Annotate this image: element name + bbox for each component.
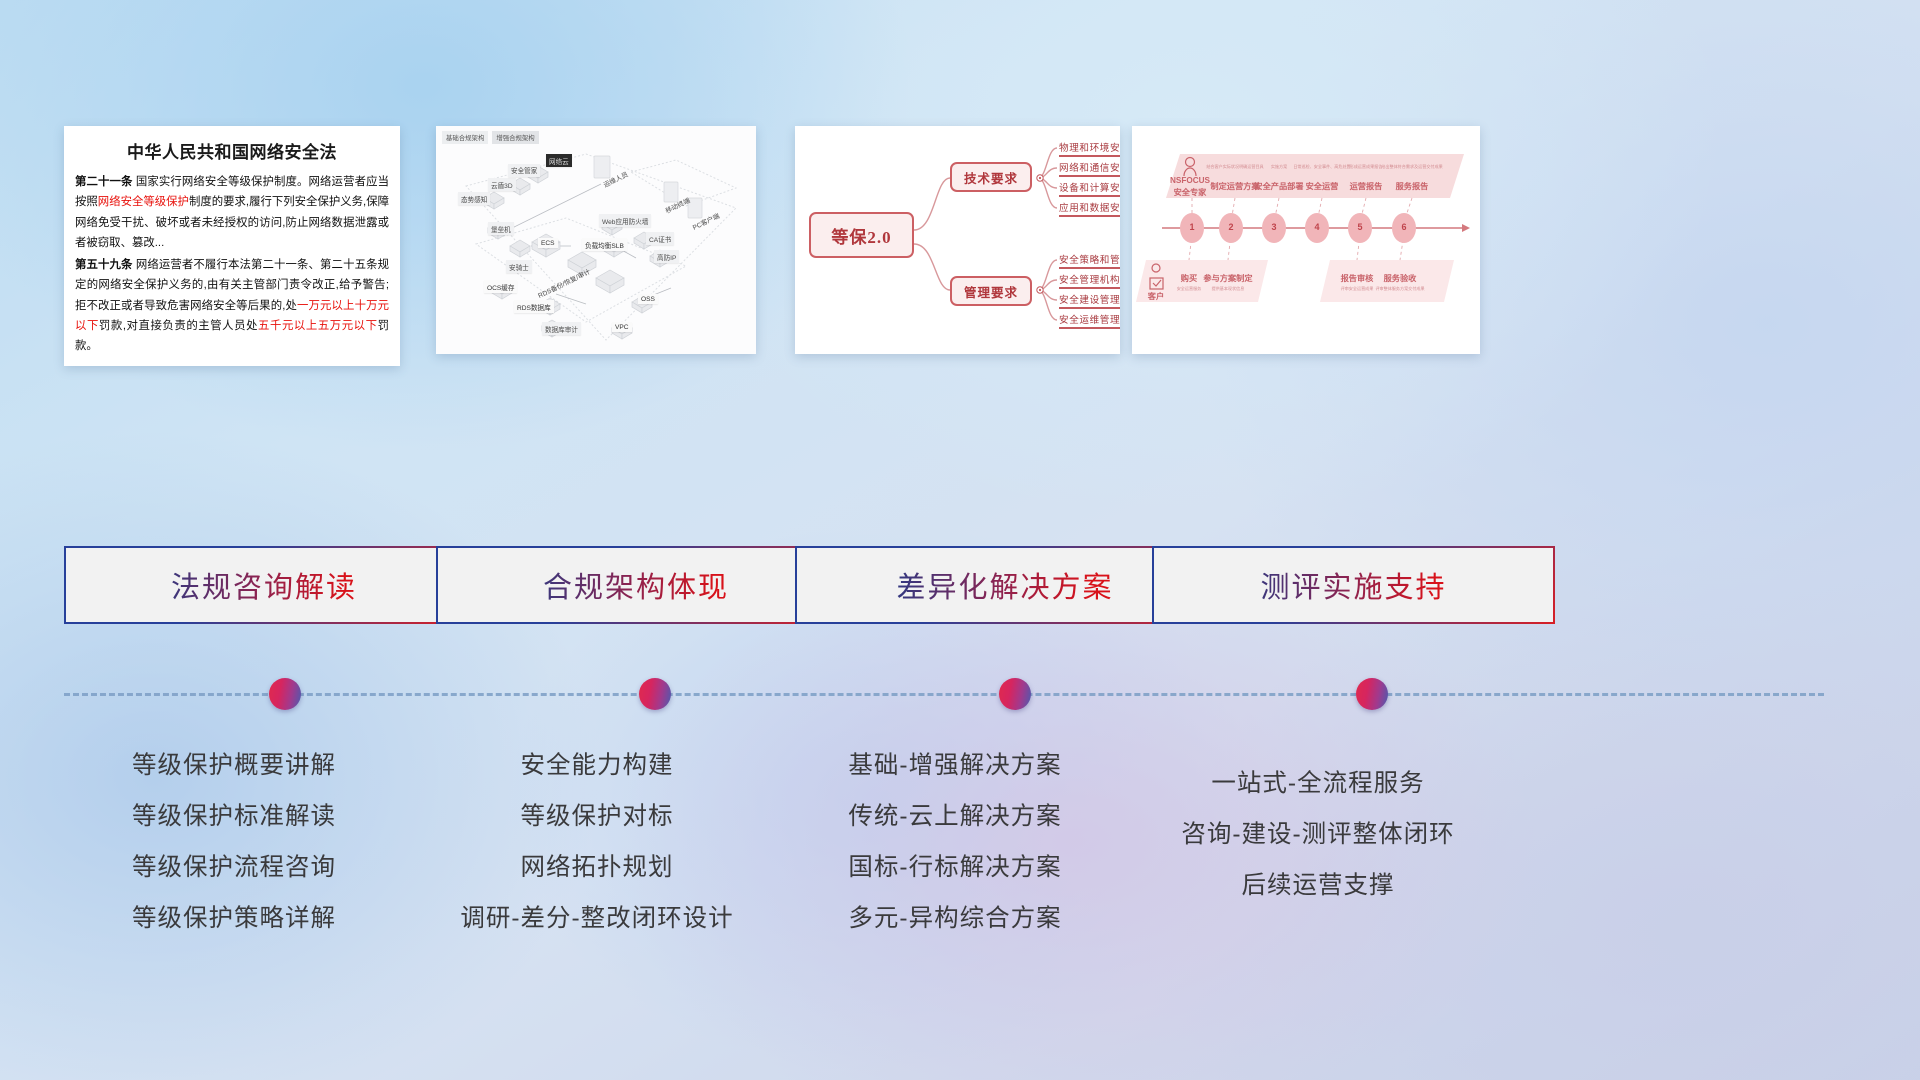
timeline-dot-3[interactable] — [999, 678, 1031, 710]
architecture-node-9: 数据库审计 — [542, 322, 581, 335]
nsfocus-top-sub-2: 日常巡检、安全事件、高危处置 — [1293, 164, 1350, 170]
button-assessment-support[interactable]: 测评实施支持 — [1152, 546, 1555, 624]
button-regulation-consulting[interactable]: 法规咨询解读 — [64, 546, 464, 624]
mindmap-branch-technical: 技术要求 — [950, 162, 1032, 192]
nsfocus-bottom-title-2: 报告审核 — [1341, 272, 1374, 284]
nsfocus-step-number-4: 4 — [1314, 222, 1319, 232]
law-highlight: 五千元以上五万元以下 — [258, 320, 378, 332]
feature-item: 多元-异构综合方案 — [790, 893, 1120, 944]
architecture-node-0: 态势感知 — [458, 192, 490, 205]
feature-item: 调研-差分-整改闭环设计 — [434, 893, 760, 944]
law-highlight: 网络安全等级保护 — [98, 196, 189, 208]
mindmap-leaf-1-1: 安全管理机构和人员 — [1059, 272, 1120, 289]
nsfocus-top-sub-0: 结合客户实际状况明确运营目具 — [1206, 164, 1263, 170]
button-compliance-architecture[interactable]: 合规架构体现 — [436, 546, 836, 624]
feature-list-3: 基础-增强解决方案传统-云上解决方案国标-行标解决方案多元-异构综合方案 — [790, 740, 1120, 944]
timeline-dot-2[interactable] — [639, 678, 671, 710]
nsfocus-expert-line2: 安全专家 — [1174, 186, 1207, 198]
nsfocus-top-sub-4: 给出整体符合需求及运营交付成果 — [1381, 164, 1442, 170]
feature-item: 基础-增强解决方案 — [790, 740, 1120, 791]
button-assessment-support-label: 测评实施支持 — [1154, 548, 1553, 622]
nsfocus-bottom-title-0: 购买 — [1181, 272, 1197, 284]
feature-item: 安全能力构建 — [434, 740, 760, 791]
nsfocus-timeline: NSFOCUS安全专家结合客户实际状况明确运营目具制定运营方案实施方案安全产品部… — [1132, 126, 1480, 354]
architecture-node-12: 负载均衡SLB — [582, 238, 627, 251]
nsfocus-bottom-title-3: 服务验收 — [1384, 272, 1417, 284]
mindmap: 等保2.0 技术要求 管理要求 物理和环境安全网络和通信安全设备和计算安全应用和… — [795, 126, 1120, 354]
nsfocus-top-title-4: 服务报告 — [1396, 180, 1429, 192]
feature-list-2: 安全能力构建等级保护对标网络拓扑规划调研-差分-整改闭环设计 — [434, 740, 760, 944]
nsfocus-top-title-0: 制定运营方案 — [1210, 180, 1259, 192]
mindmap-leaf-0-0: 物理和环境安全 — [1059, 140, 1120, 157]
nsfocus-top-title-1: 安全产品部署 — [1254, 180, 1303, 192]
nsfocus-top-sub-1: 实施方案 — [1271, 164, 1287, 170]
law-card-title: 中华人民共和国网络安全法 — [64, 138, 400, 163]
law-article-label: 第五十九条 — [75, 259, 136, 271]
button-differentiated-solution[interactable]: 差异化解决方案 — [795, 546, 1215, 624]
nsfocus-bottom-sub-3: 评审整体服务方案交付成果 — [1375, 286, 1424, 292]
card-row: 中华人民共和国网络安全法 第二十一条 国家实行网络安全等级保护制度。网络运营者应… — [0, 126, 1920, 366]
feature-item: 等级保护策略详解 — [64, 893, 404, 944]
nsfocus-expert-line1: NSFOCUS — [1170, 176, 1210, 185]
architecture-node-14: VPC — [612, 322, 632, 332]
nsfocus-bottom-sub-1: 提供基本现状信息 — [1212, 286, 1245, 292]
feature-list-1: 等级保护概要讲解等级保护标准解读等级保护流程咨询等级保护策略详解 — [64, 740, 404, 944]
card-cybersecurity-law: 中华人民共和国网络安全法 第二十一条 国家实行网络安全等级保护制度。网络运营者应… — [64, 126, 400, 366]
law-paragraph-59: 第五十九条 网络运营者不履行本法第二十一条、第二十五条规定的网络安全保护义务的,… — [64, 255, 400, 356]
nsfocus-customer-label: 客户 — [1148, 290, 1164, 302]
feature-item: 等级保护标准解读 — [64, 791, 404, 842]
architecture-node-3: 网络云 — [546, 154, 572, 167]
feature-item: 国标-行标解决方案 — [790, 842, 1120, 893]
card-mindmap-dengbao: 等保2.0 技术要求 管理要求 物理和环境安全网络和通信安全设备和计算安全应用和… — [795, 126, 1120, 354]
nsfocus-step-number-3: 3 — [1271, 222, 1276, 232]
law-paragraph-21: 第二十一条 国家实行网络安全等级保护制度。网络运营者应当按照网络安全等级保护制度… — [64, 172, 400, 253]
button-regulation-consulting-label: 法规咨询解读 — [66, 548, 462, 622]
feature-item: 传统-云上解决方案 — [790, 791, 1120, 842]
card-nsfocus-process: NSFOCUS安全专家结合客户实际状况明确运营目具制定运营方案实施方案安全产品部… — [1132, 126, 1480, 354]
nsfocus-bottom-sub-2: 评审安全运营成果 — [1341, 286, 1374, 292]
architecture-diagram: 基础合规架构 增强合规架构 — [436, 126, 756, 354]
law-article-label: 第二十一条 — [75, 176, 136, 188]
feature-item: 后续运营支撑 — [1148, 860, 1488, 911]
architecture-node-6: 安骑士 — [506, 260, 532, 273]
timeline — [64, 692, 1824, 696]
card-cloud-architecture: 基础合规架构 增强合规架构 — [436, 126, 756, 354]
feature-item: 等级保护概要讲解 — [64, 740, 404, 791]
mindmap-leaf-0-2: 设备和计算安全 — [1059, 180, 1120, 197]
feature-item: 网络拓扑规划 — [434, 842, 760, 893]
nsfocus-top-title-3: 运营报告 — [1350, 180, 1383, 192]
mindmap-leaf-1-2: 安全建设管理 — [1059, 292, 1120, 309]
button-differentiated-solution-label: 差异化解决方案 — [797, 548, 1213, 622]
timeline-dot-1[interactable] — [269, 678, 301, 710]
mindmap-leaf-0-1: 网络和通信安全 — [1059, 160, 1120, 177]
mindmap-leaf-1-3: 安全运维管理 — [1059, 312, 1120, 329]
nsfocus-step-number-2: 2 — [1228, 222, 1233, 232]
button-row: 法规咨询解读 合规架构体现 差异化解决方案 测评实施支持 — [0, 546, 1920, 624]
architecture-node-16: CA证书 — [646, 232, 674, 245]
architecture-node-8: RDS数据库 — [514, 300, 554, 313]
nsfocus-top-sub-3: 形成运营成果报告 — [1350, 164, 1383, 170]
architecture-node-11: Web应用防火墙 — [599, 214, 651, 227]
feature-list-4: 一站式-全流程服务咨询-建设-测评整体闭环后续运营支撑 — [1148, 758, 1488, 911]
architecture-node-13: OSS — [638, 294, 658, 304]
nsfocus-step-number-5: 5 — [1357, 222, 1362, 232]
architecture-node-7: OCS缓存 — [484, 280, 517, 293]
feature-item: 等级保护流程咨询 — [64, 842, 404, 893]
architecture-node-2: 安全管家 — [508, 164, 540, 177]
feature-item: 咨询-建设-测评整体闭环 — [1148, 809, 1488, 860]
architecture-node-1: 云盾3D — [488, 178, 516, 191]
mindmap-branch-management: 管理要求 — [950, 276, 1032, 306]
button-compliance-architecture-label: 合规架构体现 — [438, 548, 834, 622]
mindmap-leaf-0-3: 应用和数据安全 — [1059, 200, 1120, 217]
nsfocus-step-number-1: 1 — [1189, 222, 1194, 232]
timeline-dashed-line — [64, 693, 1824, 696]
nsfocus-step-number-6: 6 — [1401, 222, 1406, 232]
nsfocus-bottom-title-1: 参与方案制定 — [1203, 272, 1252, 284]
architecture-node-5: ECS — [538, 238, 558, 248]
feature-item: 等级保护对标 — [434, 791, 760, 842]
mindmap-root-node: 等保2.0 — [809, 212, 914, 258]
mindmap-leaf-1-0: 安全策略和管理制度 — [1059, 252, 1120, 269]
law-text: 罚款,对直接负责的主管人员处 — [99, 320, 258, 332]
nsfocus-top-title-2: 安全运营 — [1306, 180, 1339, 192]
architecture-node-4: 堡垒机 — [488, 222, 514, 235]
architecture-node-17: 高防IP — [654, 250, 679, 263]
nsfocus-bottom-sub-0: 安全运营服务 — [1177, 286, 1202, 292]
feature-item: 一站式-全流程服务 — [1148, 758, 1488, 809]
timeline-dot-4[interactable] — [1356, 678, 1388, 710]
nsfocus-shapes — [1132, 126, 1480, 354]
